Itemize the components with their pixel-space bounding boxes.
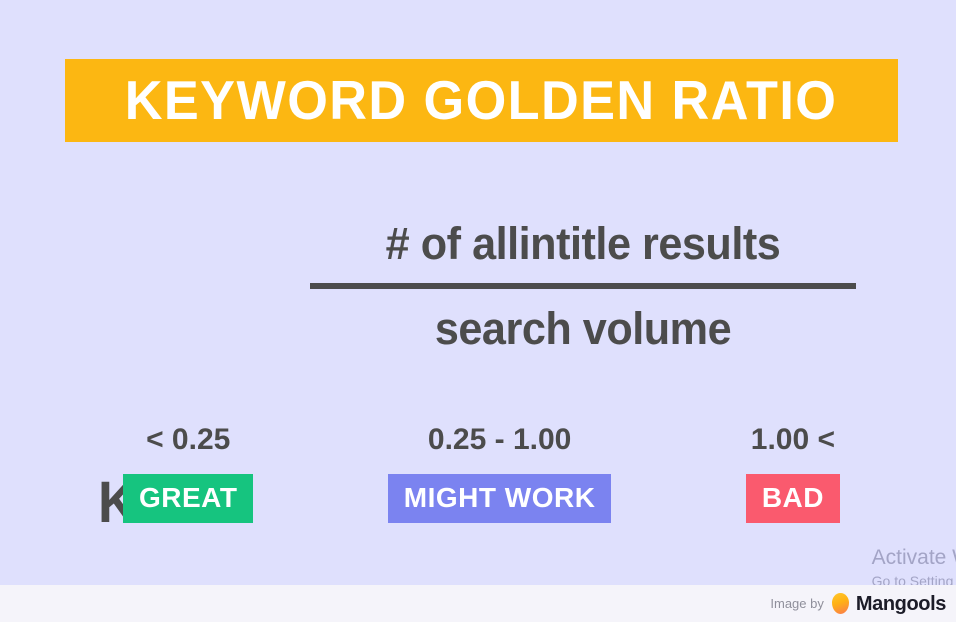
- range-column-might-work: 0.25 - 1.00 MIGHT WORK: [388, 425, 612, 523]
- windows-activation-watermark: Activate W Go to Setting: [872, 545, 956, 585]
- formula-numerator: # of allintitle results: [321, 216, 845, 272]
- status-badge-great: GREAT: [123, 474, 253, 523]
- range-value-might-work: 0.25 - 1.00: [428, 425, 571, 455]
- brand-name: Mangools: [856, 594, 946, 614]
- mango-icon: [832, 593, 849, 614]
- title-banner: KEYWORD GOLDEN RATIO: [65, 59, 898, 142]
- image-credit: Image by Mangools: [770, 585, 946, 622]
- range-column-bad: 1.00 < BAD: [746, 425, 840, 523]
- page-title: KEYWORD GOLDEN RATIO: [125, 73, 838, 128]
- kgr-formula: KGR= # of allintitle results search volu…: [0, 216, 956, 368]
- range-value-bad: 1.00 <: [751, 425, 835, 455]
- status-badge-bad: BAD: [746, 474, 840, 523]
- range-value-great: < 0.25: [146, 425, 230, 455]
- range-column-great: < 0.25 GREAT: [123, 425, 253, 523]
- status-badge-might-work: MIGHT WORK: [388, 474, 612, 523]
- activation-watermark-title: Activate W: [872, 545, 956, 571]
- infographic-canvas: KEYWORD GOLDEN RATIO KGR= # of allintitl…: [0, 0, 956, 585]
- image-credit-label: Image by: [770, 597, 823, 610]
- mangools-logo[interactable]: Mangools: [832, 593, 946, 614]
- formula-fraction: # of allintitle results search volume: [310, 216, 856, 358]
- activation-watermark-subtitle: Go to Setting: [872, 571, 956, 585]
- fraction-divider-line: [310, 283, 856, 289]
- footer-bar: Image by Mangools: [0, 585, 956, 622]
- ratio-ranges-row: < 0.25 GREAT 0.25 - 1.00 MIGHT WORK 1.00…: [95, 425, 885, 523]
- formula-denominator: search volume: [321, 301, 845, 357]
